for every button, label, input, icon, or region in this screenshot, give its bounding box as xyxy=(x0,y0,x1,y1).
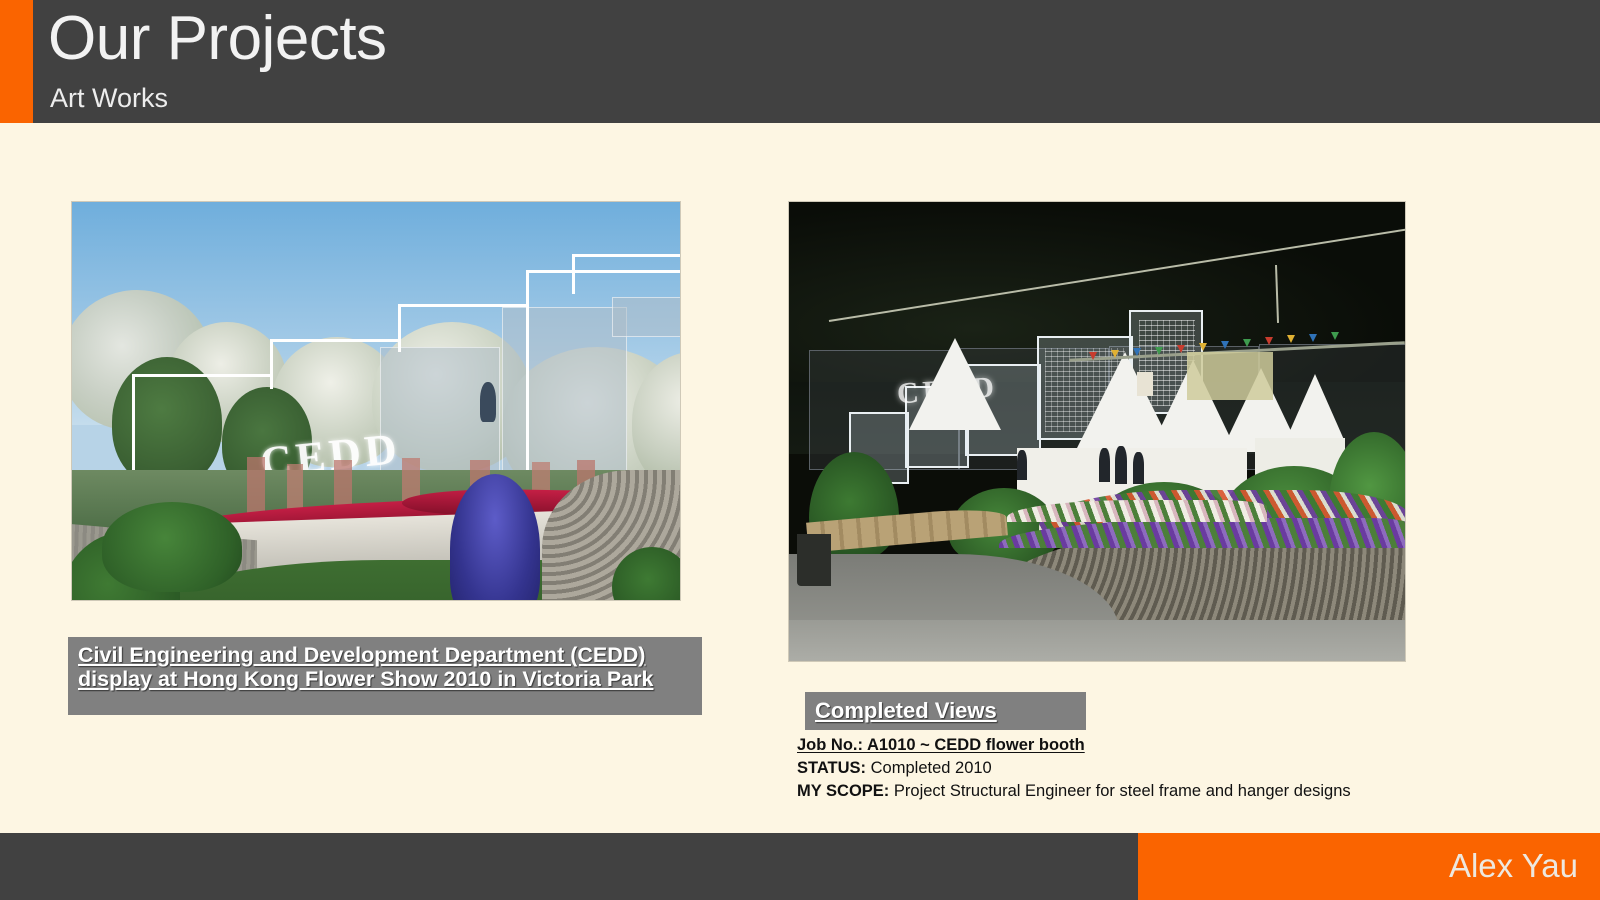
scope-label: MY SCOPE: xyxy=(797,782,889,800)
completed-views-photo: CEDD xyxy=(788,201,1406,662)
wireframe-step xyxy=(526,270,681,480)
scope-value: Project Structural Engineer for steel fr… xyxy=(894,782,1351,800)
page-footer: Alex Yau xyxy=(0,833,1600,900)
asphalt-path xyxy=(789,620,1406,662)
wireframe-step xyxy=(398,304,528,352)
bunting-flag xyxy=(1177,345,1185,353)
person-silhouette xyxy=(1017,450,1027,480)
author-name: Alex Yau xyxy=(1449,846,1578,886)
person-silhouette xyxy=(1099,448,1110,482)
bunting-flag xyxy=(1287,335,1295,343)
white-tent xyxy=(909,338,1001,430)
right-caption-box: Completed Views xyxy=(805,692,1086,730)
header-accent-bar xyxy=(0,0,33,123)
project-rendering-image: CEDD xyxy=(71,201,681,601)
palm-foliage xyxy=(102,502,242,592)
white-tent xyxy=(1285,374,1345,442)
left-caption-text: Civil Engineering and Development Depart… xyxy=(78,644,692,691)
illuminated-signboard xyxy=(1187,352,1273,400)
bunting-flag xyxy=(1133,348,1141,356)
page-title: Our Projects xyxy=(48,2,387,76)
footer-dark-bar xyxy=(0,833,1138,900)
status-value: Completed 2010 xyxy=(871,759,992,777)
scope-line: MY SCOPE: Project Structural Engineer fo… xyxy=(797,780,1351,803)
bunting-flag xyxy=(1221,341,1229,349)
job-number-line: Job No.: A1010 ~ CEDD flower booth xyxy=(797,734,1085,757)
right-caption-text: Completed Views xyxy=(815,697,997,724)
bunting-flag xyxy=(1111,350,1119,358)
bunting-flag xyxy=(1243,339,1251,347)
bunting-flag xyxy=(1089,352,1097,360)
bunting-flag xyxy=(1155,347,1163,355)
bunting-flag xyxy=(1199,343,1207,351)
bunting-flag xyxy=(1265,337,1273,345)
status-line: STATUS: Completed 2010 xyxy=(797,757,992,780)
kerb-block xyxy=(797,534,831,586)
status-label: STATUS: xyxy=(797,759,866,777)
person-silhouette xyxy=(1115,446,1127,484)
booth-number-sign xyxy=(1137,372,1153,396)
footer-orange-bar: Alex Yau xyxy=(1138,833,1600,900)
bunting-flag xyxy=(1331,332,1339,340)
wireframe-step xyxy=(572,254,681,294)
left-caption-box: Civil Engineering and Development Depart… xyxy=(68,637,702,715)
bunting-flag xyxy=(1309,334,1317,342)
person-silhouette xyxy=(1133,452,1144,484)
figure-silhouette xyxy=(480,382,496,422)
wireframe-step xyxy=(270,339,400,389)
page-header: Our Projects Art Works xyxy=(0,0,1600,123)
page-subtitle: Art Works xyxy=(50,82,168,114)
